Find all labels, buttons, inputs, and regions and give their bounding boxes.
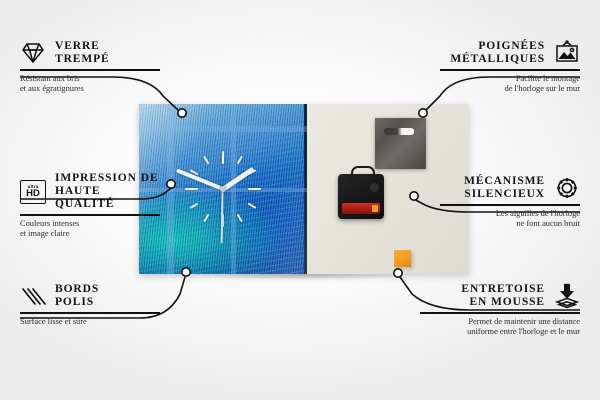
callout-header: VERRE TREMPÉ bbox=[20, 40, 160, 66]
product-photo bbox=[139, 104, 469, 274]
callout-bords-polis[interactable]: BORDS POLIS Surface lisse et sûre bbox=[20, 283, 160, 327]
callout-header: BORDS POLIS bbox=[20, 283, 160, 309]
callout-rule bbox=[20, 214, 160, 216]
callout-title: BORDS POLIS bbox=[55, 283, 99, 309]
gear-icon bbox=[554, 175, 580, 201]
clock-front-panel bbox=[139, 104, 307, 274]
callout-title: MÉCANISME SILENCIEUX bbox=[464, 175, 545, 201]
picture-hanger-icon bbox=[554, 40, 580, 66]
callout-title: IMPRESSION DE HAUTE QUALITÉ bbox=[55, 172, 160, 211]
clock-mechanism bbox=[338, 174, 384, 219]
callout-entretoise-mousse[interactable]: ENTRETOISE EN MOUSSE Permet de maintenir… bbox=[420, 283, 580, 338]
callout-header: ENTRETOISE EN MOUSSE bbox=[420, 283, 580, 309]
diamond-icon bbox=[20, 40, 46, 66]
callout-description: Surface lisse et sûre bbox=[20, 317, 160, 328]
callout-rule bbox=[420, 312, 580, 314]
foam-spacer bbox=[394, 250, 411, 267]
polished-edges-icon bbox=[20, 283, 46, 309]
callout-rule bbox=[20, 312, 160, 314]
callout-description: Permet de maintenir une distance uniform… bbox=[420, 317, 580, 338]
press-layers-icon bbox=[554, 283, 580, 309]
callout-description: Résistant aux bris et aux égratignures bbox=[20, 74, 160, 95]
callout-header: ultra HD IMPRESSION DE HAUTE QUALITÉ bbox=[20, 172, 160, 211]
callout-title: VERRE TREMPÉ bbox=[55, 40, 110, 66]
callout-mecanisme-silencieux[interactable]: MÉCANISME SILENCIEUX Les aiguilles de l'… bbox=[440, 175, 580, 230]
ultra-hd-icon: ultra HD bbox=[20, 180, 46, 204]
callout-rule bbox=[20, 69, 160, 71]
mechanism-dial bbox=[370, 183, 379, 192]
callout-rule bbox=[440, 69, 580, 71]
ultra-hd-big-label: HD bbox=[26, 189, 40, 199]
metal-hanger-plate bbox=[375, 118, 426, 169]
callout-description: Les aiguilles de l'horloge ne font aucun… bbox=[440, 209, 580, 230]
callout-rule bbox=[440, 204, 580, 206]
infographic-canvas: VERRE TREMPÉ Résistant aux bris et aux é… bbox=[0, 0, 600, 400]
clock-center-cap bbox=[220, 186, 226, 192]
callout-impression-haute-qualite[interactable]: ultra HD IMPRESSION DE HAUTE QUALITÉ Cou… bbox=[20, 172, 160, 240]
callout-title: POIGNÉES MÉTALLIQUES bbox=[450, 40, 545, 66]
callout-header: MÉCANISME SILENCIEUX bbox=[440, 175, 580, 201]
callout-description: Facilite le montage de l'horloge sur le … bbox=[440, 74, 580, 95]
callout-title: ENTRETOISE EN MOUSSE bbox=[461, 283, 545, 309]
callout-description: Couleurs intenses et image claire bbox=[20, 219, 160, 240]
mechanism-hanging-loop bbox=[351, 166, 375, 179]
callout-poignees-metalliques[interactable]: POIGNÉES MÉTALLIQUES Facilite le montage… bbox=[440, 40, 580, 95]
battery bbox=[342, 203, 380, 214]
callout-header: POIGNÉES MÉTALLIQUES bbox=[440, 40, 580, 66]
callout-verre-trempe[interactable]: VERRE TREMPÉ Résistant aux bris et aux é… bbox=[20, 40, 160, 95]
hanger-slot bbox=[384, 128, 414, 135]
